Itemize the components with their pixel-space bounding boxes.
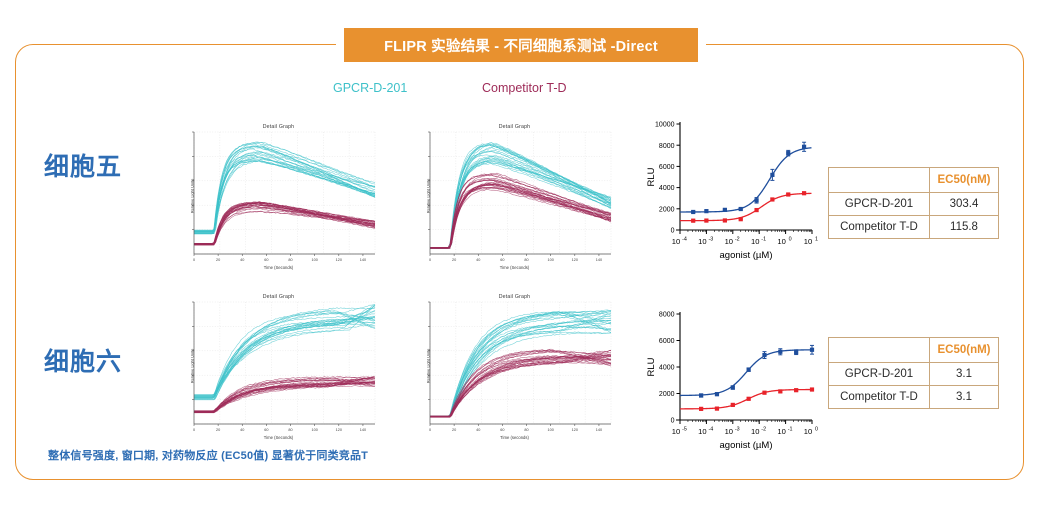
cell-compound-name: GPCR-D-201 bbox=[829, 193, 930, 216]
svg-text:8000: 8000 bbox=[659, 143, 675, 150]
dose-response-chart-cell5: 020004000600080001000010-410-310-210-110… bbox=[634, 112, 820, 270]
svg-text:-1: -1 bbox=[788, 427, 793, 433]
kinetic-chart-cell6-competitor: Detail Graph Relative Light Units Time (… bbox=[412, 292, 617, 440]
svg-text:40: 40 bbox=[240, 258, 244, 262]
svg-text:10: 10 bbox=[672, 427, 680, 436]
svg-text:10: 10 bbox=[777, 427, 785, 436]
table-row: Competitor T-D 115.8 bbox=[829, 216, 999, 239]
svg-text:0: 0 bbox=[789, 237, 792, 243]
svg-text:-2: -2 bbox=[761, 427, 766, 433]
svg-text:80: 80 bbox=[524, 258, 528, 262]
svg-text:2000: 2000 bbox=[659, 206, 675, 213]
cell-compound-name: GPCR-D-201 bbox=[829, 363, 930, 386]
table-header-ec50: EC50(nM) bbox=[930, 338, 999, 363]
svg-text:10: 10 bbox=[672, 237, 680, 246]
row-label-cell-five: 细胞五 bbox=[44, 147, 122, 183]
svg-text:20: 20 bbox=[452, 258, 456, 262]
svg-text:0: 0 bbox=[815, 427, 818, 433]
cell-compound-name: Competitor T-D bbox=[829, 386, 930, 409]
svg-text:100: 100 bbox=[547, 428, 553, 432]
svg-text:10: 10 bbox=[804, 237, 812, 246]
ec50-table-cell5: EC50(nM) GPCR-D-201 303.4 Competitor T-D… bbox=[828, 167, 999, 239]
slide-root: FLIPR 实验结果 - 不同细胞系测试 -Direct GPCR-D-201 … bbox=[0, 0, 1044, 518]
svg-text:agonist (µM): agonist (µM) bbox=[720, 250, 773, 261]
svg-text:10: 10 bbox=[777, 237, 785, 246]
table-row: GPCR-D-201 303.4 bbox=[829, 193, 999, 216]
svg-text:140: 140 bbox=[596, 428, 602, 432]
svg-text:agonist (µM): agonist (µM) bbox=[720, 440, 773, 451]
svg-text:100: 100 bbox=[311, 258, 317, 262]
svg-text:4000: 4000 bbox=[659, 185, 675, 192]
page-title: FLIPR 实验结果 - 不同细胞系测试 -Direct bbox=[384, 35, 658, 56]
svg-text:80: 80 bbox=[288, 258, 292, 262]
cell-ec50-value: 3.1 bbox=[930, 363, 999, 386]
svg-text:10: 10 bbox=[725, 237, 733, 246]
svg-text:10: 10 bbox=[698, 427, 706, 436]
kinetic-chart-cell5-competitor: Detail Graph Relative Light Units Time (… bbox=[412, 122, 617, 270]
svg-text:60: 60 bbox=[500, 258, 504, 262]
cell-compound-name: Competitor T-D bbox=[829, 216, 930, 239]
dose-response-chart-cell6: 0200040006000800010-510-410-310-210-1100… bbox=[634, 302, 820, 460]
svg-text:40: 40 bbox=[240, 428, 244, 432]
svg-text:-2: -2 bbox=[735, 237, 740, 243]
cell-ec50-value: 303.4 bbox=[930, 193, 999, 216]
svg-text:60: 60 bbox=[264, 258, 268, 262]
table-row: Competitor T-D 3.1 bbox=[829, 386, 999, 409]
svg-text:20: 20 bbox=[452, 428, 456, 432]
table-header-ec50: EC50(nM) bbox=[930, 168, 999, 193]
svg-text:120: 120 bbox=[336, 258, 342, 262]
table-header-blank bbox=[829, 168, 930, 193]
svg-text:10: 10 bbox=[804, 427, 812, 436]
ec50-table-cell6: EC50(nM) GPCR-D-201 3.1 Competitor T-D 3… bbox=[828, 337, 999, 409]
svg-text:6000: 6000 bbox=[659, 164, 675, 171]
footnote-text: 整体信号强度, 窗口期, 对药物反应 (EC50值) 显著优于同类竞品T bbox=[48, 447, 368, 463]
svg-text:-4: -4 bbox=[709, 427, 714, 433]
cell-ec50-value: 115.8 bbox=[930, 216, 999, 239]
svg-text:6000: 6000 bbox=[659, 338, 675, 345]
svg-text:100: 100 bbox=[311, 428, 317, 432]
svg-text:-4: -4 bbox=[682, 237, 687, 243]
column-header-competitor-t-d: Competitor T-D bbox=[482, 81, 567, 95]
svg-text:10: 10 bbox=[698, 237, 706, 246]
table-header-row: EC50(nM) bbox=[829, 168, 999, 193]
svg-text:120: 120 bbox=[572, 258, 578, 262]
svg-text:60: 60 bbox=[500, 428, 504, 432]
svg-text:-3: -3 bbox=[709, 237, 714, 243]
svg-text:120: 120 bbox=[572, 428, 578, 432]
svg-text:4000: 4000 bbox=[659, 365, 675, 372]
column-header-gpcr-d-201: GPCR-D-201 bbox=[333, 81, 407, 95]
table-row: GPCR-D-201 3.1 bbox=[829, 363, 999, 386]
svg-text:RLU: RLU bbox=[646, 167, 657, 186]
svg-text:0: 0 bbox=[429, 258, 431, 262]
svg-text:10: 10 bbox=[751, 427, 759, 436]
svg-text:80: 80 bbox=[288, 428, 292, 432]
svg-text:40: 40 bbox=[476, 428, 480, 432]
row-label-cell-six: 细胞六 bbox=[44, 342, 122, 378]
svg-text:0: 0 bbox=[193, 428, 195, 432]
slide-title-banner: FLIPR 实验结果 - 不同细胞系测试 -Direct bbox=[344, 28, 698, 62]
svg-text:10: 10 bbox=[725, 427, 733, 436]
svg-text:0: 0 bbox=[429, 428, 431, 432]
kinetic-chart-cell5-gpcr: Detail Graph Relative Light Units Time (… bbox=[176, 122, 381, 270]
svg-text:80: 80 bbox=[524, 428, 528, 432]
svg-text:10000: 10000 bbox=[655, 122, 675, 129]
svg-text:-1: -1 bbox=[761, 237, 766, 243]
svg-text:8000: 8000 bbox=[659, 312, 675, 319]
svg-text:0: 0 bbox=[671, 418, 675, 425]
svg-text:10: 10 bbox=[751, 237, 759, 246]
cell-ec50-value: 3.1 bbox=[930, 386, 999, 409]
kinetic-chart-cell6-gpcr: Detail Graph Relative Light Units Time (… bbox=[176, 292, 381, 440]
svg-text:RLU: RLU bbox=[646, 357, 657, 376]
svg-text:-3: -3 bbox=[735, 427, 740, 433]
table-header-blank bbox=[829, 338, 930, 363]
svg-text:140: 140 bbox=[596, 258, 602, 262]
svg-text:-5: -5 bbox=[682, 427, 687, 433]
svg-text:1: 1 bbox=[815, 237, 818, 243]
svg-text:2000: 2000 bbox=[659, 391, 675, 398]
svg-text:100: 100 bbox=[547, 258, 553, 262]
svg-text:60: 60 bbox=[264, 428, 268, 432]
table-header-row: EC50(nM) bbox=[829, 338, 999, 363]
svg-text:20: 20 bbox=[216, 258, 220, 262]
svg-text:120: 120 bbox=[336, 428, 342, 432]
svg-text:0: 0 bbox=[671, 228, 675, 235]
svg-text:20: 20 bbox=[216, 428, 220, 432]
svg-text:140: 140 bbox=[360, 258, 366, 262]
svg-text:140: 140 bbox=[360, 428, 366, 432]
svg-text:40: 40 bbox=[476, 258, 480, 262]
svg-text:0: 0 bbox=[193, 258, 195, 262]
